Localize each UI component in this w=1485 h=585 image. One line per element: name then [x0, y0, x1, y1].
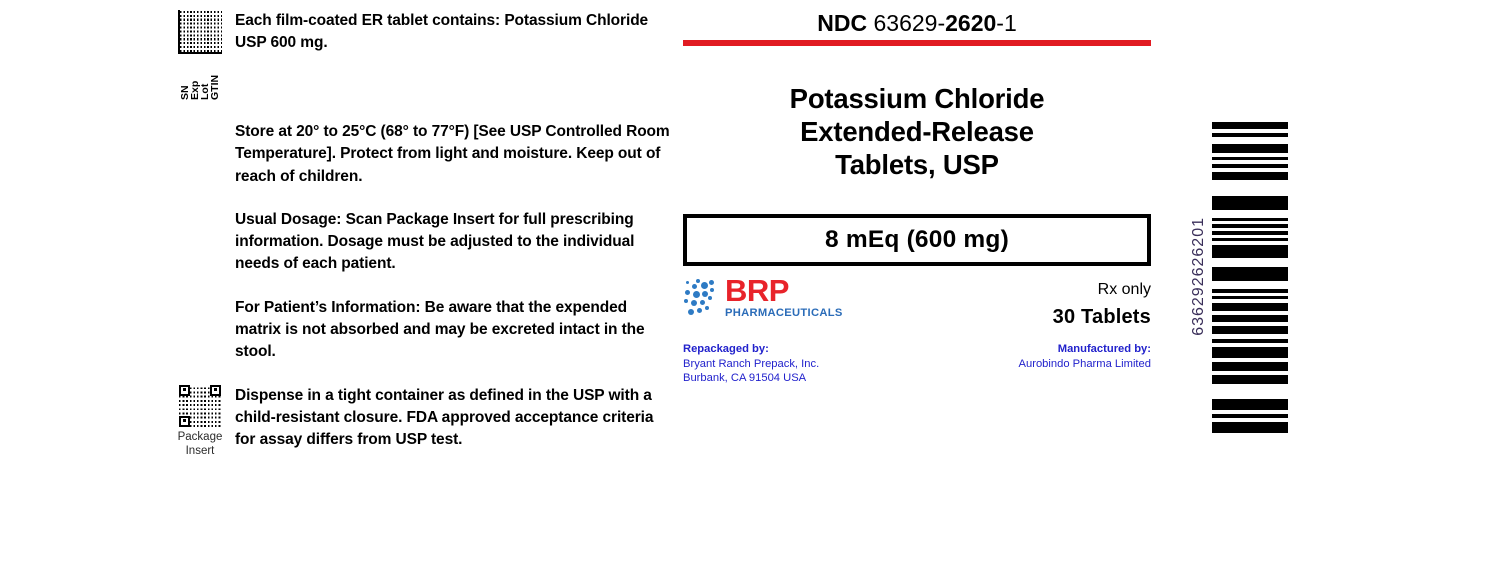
- package-insert-block[interactable]: Package Insert: [165, 385, 235, 458]
- info-row-dosage: Usual Dosage: Scan Package Insert for fu…: [165, 209, 677, 276]
- linear-barcode-icon: [1212, 122, 1288, 437]
- ndc-product-code: 2620: [945, 10, 996, 36]
- patient-information-statement: For Patient’s Information: Be aware that…: [235, 297, 677, 364]
- rx-and-count-block: Rx only 30 Tablets: [1053, 274, 1151, 329]
- datamatrix-label-exp: Exp: [190, 56, 200, 100]
- ndc-labeler-code: 63629-: [873, 10, 945, 36]
- paragraph-spacer: [165, 188, 677, 209]
- product-name-line2: Extended-Release: [683, 115, 1151, 148]
- ndc-package-code: -1: [996, 10, 1016, 36]
- usual-dosage-statement: Usual Dosage: Scan Package Insert for fu…: [235, 209, 677, 276]
- paragraph-spacer: [165, 100, 677, 121]
- qr-finder-bottom-left: [179, 416, 190, 427]
- info-row-patient: For Patient’s Information: Be aware that…: [165, 297, 677, 364]
- datamatrix-labels: GTIN Lot Exp SN: [180, 56, 220, 100]
- paragraph-spacer: [165, 276, 677, 297]
- repackager-name: Bryant Ranch Prepack, Inc.: [683, 357, 819, 372]
- tablet-count: 30 Tablets: [1053, 305, 1151, 329]
- manufacturer-block: Manufactured by: Aurobindo Pharma Limite…: [1019, 342, 1151, 371]
- repackager-block: Repackaged by: Bryant Ranch Prepack, Inc…: [683, 342, 819, 386]
- dispense-statement: Dispense in a tight container as defined…: [235, 385, 677, 452]
- qr-code-icon[interactable]: [179, 385, 221, 427]
- info-row-dispense: Package Insert Dispense in a tight conta…: [165, 385, 677, 458]
- principal-display-panel: NDC 63629-2620-1 Potassium Chloride Exte…: [683, 10, 1151, 386]
- brand-and-rx-row: BRP PHARMACEUTICALS Rx only 30 Tablets: [683, 274, 1151, 329]
- ndc-prefix: NDC: [817, 10, 867, 36]
- manufacturer-name: Aurobindo Pharma Limited: [1019, 357, 1151, 372]
- brp-dot-cluster-icon: [683, 279, 721, 317]
- qr-finder-top-right: [210, 385, 221, 396]
- brp-logo: BRP PHARMACEUTICALS: [683, 274, 843, 320]
- package-insert-caption-line2: Insert: [178, 444, 223, 458]
- package-insert-caption-line1: Package: [178, 430, 223, 444]
- datamatrix-block: GTIN Lot Exp SN: [165, 10, 235, 100]
- repackager-heading: Repackaged by:: [683, 342, 819, 357]
- datamatrix-label-lot: Lot: [200, 56, 210, 100]
- product-name: Potassium Chloride Extended-Release Tabl…: [683, 82, 1151, 181]
- brp-subtitle: PHARMACEUTICALS: [725, 307, 843, 320]
- package-insert-caption: Package Insert: [178, 430, 223, 458]
- qr-finder-top-left: [179, 385, 190, 396]
- product-name-line1: Potassium Chloride: [683, 82, 1151, 115]
- rx-only-statement: Rx only: [1053, 280, 1151, 299]
- red-divider-rule: [683, 40, 1151, 46]
- brp-name: BRP: [725, 276, 843, 306]
- barcode-digits: 636292626201: [1190, 217, 1208, 336]
- datamatrix-label-sn: SN: [180, 56, 190, 100]
- strength-box: 8 mEq (600 mg): [683, 214, 1151, 266]
- brp-wordmark: BRP PHARMACEUTICALS: [725, 276, 843, 320]
- ndc-number: NDC 63629-2620-1: [683, 10, 1151, 37]
- product-name-line3: Tablets, USP: [683, 148, 1151, 181]
- datamatrix-code-icon: [178, 10, 222, 54]
- left-information-panel: GTIN Lot Exp SN Each film-coated ER tabl…: [165, 10, 677, 458]
- company-information-row: Repackaged by: Bryant Ranch Prepack, Inc…: [683, 342, 1151, 386]
- manufacturer-heading: Manufactured by:: [1019, 342, 1151, 357]
- paragraph-spacer: [165, 364, 677, 385]
- repackager-address: Burbank, CA 91504 USA: [683, 371, 819, 386]
- ingredient-statement: Each film-coated ER tablet contains: Pot…: [235, 10, 677, 55]
- strength-value: 8 mEq (600 mg): [825, 226, 1009, 254]
- storage-statement: Store at 20° to 25°C (68° to 77°F) [See …: [235, 121, 677, 188]
- info-row-ingredients: GTIN Lot Exp SN Each film-coated ER tabl…: [165, 10, 677, 100]
- info-row-storage: Store at 20° to 25°C (68° to 77°F) [See …: [165, 121, 677, 188]
- barcode-area: 636292626201: [1190, 122, 1300, 437]
- datamatrix-label-gtin: GTIN: [210, 56, 220, 100]
